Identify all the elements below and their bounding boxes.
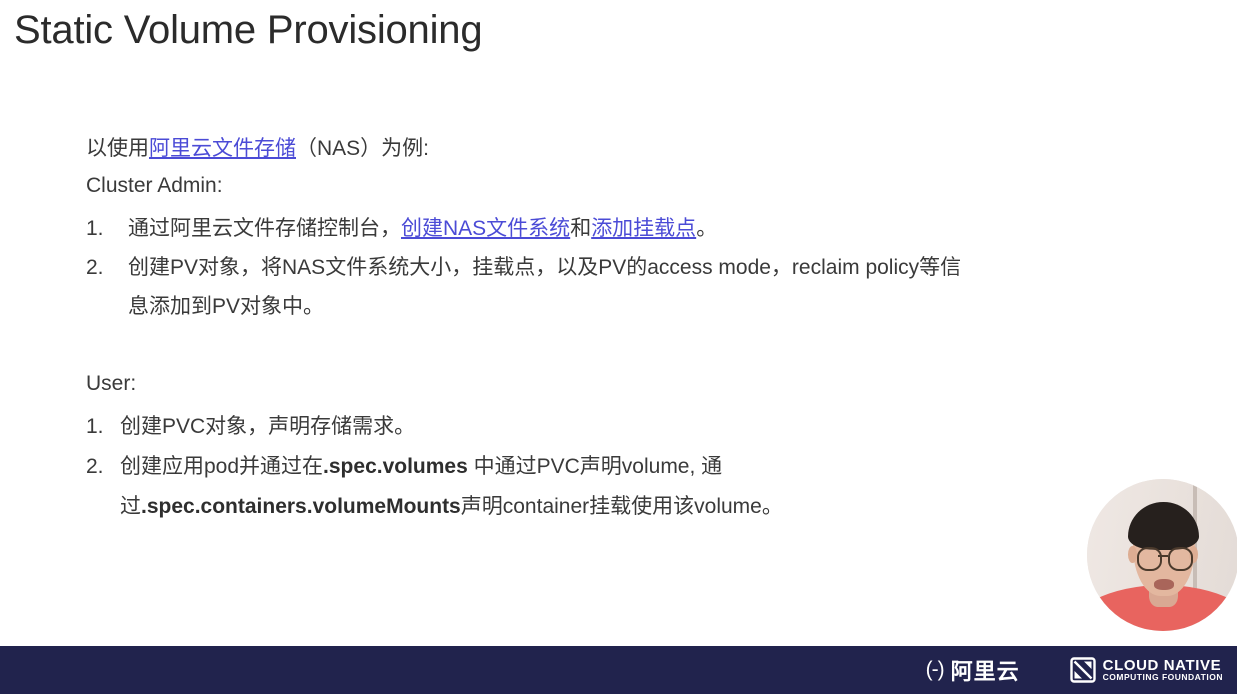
user-step2-d: 声明container挂载使用该volume。 bbox=[461, 495, 783, 518]
cncf-logo: CLOUD NATIVE COMPUTING FOUNDATION bbox=[1070, 657, 1223, 683]
list-item-number: 1. bbox=[86, 209, 112, 248]
spec-volumes-code: .spec.volumes bbox=[323, 455, 468, 478]
user-step2-b: 中通过PVC声明volume, 通 bbox=[468, 455, 722, 478]
create-nas-filesystem-link[interactable]: 创建NAS文件系统 bbox=[401, 217, 570, 240]
presenter-video-overlay[interactable] bbox=[1087, 479, 1237, 631]
presenter-mouth bbox=[1154, 579, 1174, 590]
list-item: 2. 创建应用pod并通过在.spec.volumes 中通过PVC声明volu… bbox=[86, 447, 1176, 527]
admin-steps-list: 1. 通过阿里云文件存储控制台，创建NAS文件系统和添加挂载点。 2. 创建PV… bbox=[86, 209, 1176, 326]
user-label: User: bbox=[86, 368, 1176, 399]
user-step2-c: 过 bbox=[120, 495, 141, 518]
lead-line: 以使用阿里云文件存储（NAS）为例: bbox=[86, 133, 1176, 164]
slide-canvas: Static Volume Provisioning 以使用阿里云文件存储（NA… bbox=[0, 0, 1237, 694]
list-item-text-line2: 过.spec.containers.volumeMounts声明containe… bbox=[120, 487, 1176, 527]
cncf-wordmark: CLOUD NATIVE COMPUTING FOUNDATION bbox=[1103, 658, 1223, 682]
list-item-number: 2. bbox=[86, 447, 112, 487]
step1-mid: 和 bbox=[570, 217, 591, 240]
cncf-line-2: COMPUTING FOUNDATION bbox=[1103, 673, 1223, 682]
add-mount-point-link[interactable]: 添加挂载点 bbox=[591, 217, 696, 240]
lead-prefix: 以使用 bbox=[86, 137, 149, 160]
list-item-text-line1: 创建应用pod并通过在.spec.volumes 中通过PVC声明volume,… bbox=[120, 447, 1176, 487]
list-item-text-line1: 创建PV对象，将NAS文件系统大小，挂载点，以及PV的access mode，r… bbox=[128, 248, 1176, 287]
list-item: 1. 创建PVC对象，声明存储需求。 bbox=[86, 407, 1176, 447]
list-item-text: 创建PVC对象，声明存储需求。 bbox=[120, 407, 1176, 447]
slide-body: 以使用阿里云文件存储（NAS）为例: Cluster Admin: 1. 通过阿… bbox=[86, 133, 1176, 527]
aliyun-nas-link[interactable]: 阿里云文件存储 bbox=[149, 137, 296, 160]
spec-containers-volumemounts-code: .spec.containers.volumeMounts bbox=[141, 495, 461, 518]
list-item-number: 1. bbox=[86, 407, 112, 447]
list-item-number: 2. bbox=[86, 248, 112, 287]
presenter-glasses-right bbox=[1168, 547, 1193, 571]
presenter-glasses-bridge bbox=[1158, 555, 1167, 557]
lead-suffix: （NAS）为例: bbox=[296, 137, 429, 160]
step1-part1: 通过阿里云文件存储控制台， bbox=[128, 217, 401, 240]
presenter-ear-left bbox=[1128, 546, 1137, 563]
cluster-admin-label: Cluster Admin: bbox=[86, 170, 1176, 201]
list-item-text: 通过阿里云文件存储控制台，创建NAS文件系统和添加挂载点。 bbox=[128, 209, 1176, 248]
user-step2-a: 创建应用pod并通过在 bbox=[120, 455, 323, 478]
page-title: Static Volume Provisioning bbox=[14, 8, 482, 53]
presenter-glasses-left bbox=[1137, 547, 1162, 571]
cncf-mark-icon bbox=[1070, 657, 1096, 683]
list-item-text-line2: 息添加到PV对象中。 bbox=[128, 287, 1176, 326]
alibaba-cloud-mark-icon: (-) bbox=[926, 658, 944, 682]
section-gap bbox=[86, 326, 1176, 368]
footer-logo-group: (-) 阿里云 CLOUD NATIVE COMPUTING FOUNDATIO… bbox=[926, 654, 1223, 686]
list-item: 1. 通过阿里云文件存储控制台，创建NAS文件系统和添加挂载点。 bbox=[86, 209, 1176, 248]
cncf-line-1: CLOUD NATIVE bbox=[1103, 658, 1223, 673]
alibaba-cloud-logo: (-) 阿里云 bbox=[926, 654, 1020, 686]
alibaba-cloud-wordmark: 阿里云 bbox=[951, 654, 1020, 686]
step1-part2: 。 bbox=[696, 217, 717, 240]
footer-bar: (-) 阿里云 CLOUD NATIVE COMPUTING FOUNDATIO… bbox=[0, 646, 1237, 694]
user-steps-list: 1. 创建PVC对象，声明存储需求。 2. 创建应用pod并通过在.spec.v… bbox=[86, 407, 1176, 527]
list-item: 2. 创建PV对象，将NAS文件系统大小，挂载点，以及PV的access mod… bbox=[86, 248, 1176, 326]
